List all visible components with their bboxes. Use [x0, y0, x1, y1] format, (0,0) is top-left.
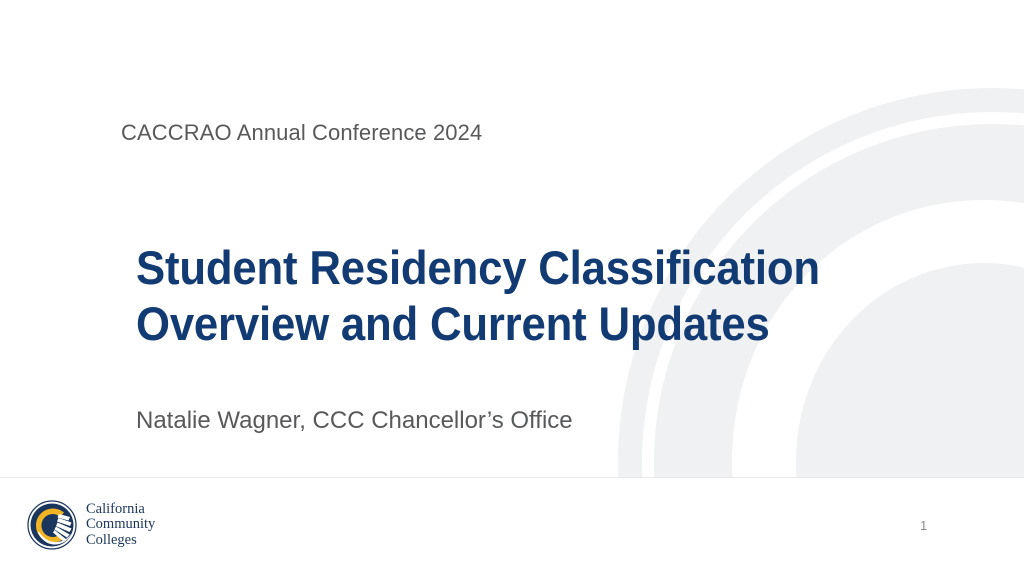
- slide-subtitle-presenter: Natalie Wagner, CCC Chancellor’s Office: [136, 404, 573, 438]
- logo-wordmark-line-1: California: [86, 502, 155, 518]
- slide-title: Student Residency Classification Overvie…: [136, 240, 861, 352]
- slide-page-number: 1: [920, 518, 927, 533]
- presentation-slide: CACCRAO Annual Conference 2024 Student R…: [0, 0, 1024, 576]
- slide-content: CACCRAO Annual Conference 2024 Student R…: [0, 0, 1024, 576]
- footer-logo-lockup: California Community Colleges: [27, 500, 155, 550]
- california-community-colleges-logo-icon: [27, 500, 77, 550]
- logo-wordmark: California Community Colleges: [86, 502, 155, 549]
- slide-eyebrow-text: CACCRAO Annual Conference 2024: [121, 118, 482, 148]
- logo-wordmark-line-2: Community: [86, 517, 155, 533]
- footer-divider: [0, 477, 1024, 478]
- logo-wordmark-line-3: Colleges: [86, 533, 155, 549]
